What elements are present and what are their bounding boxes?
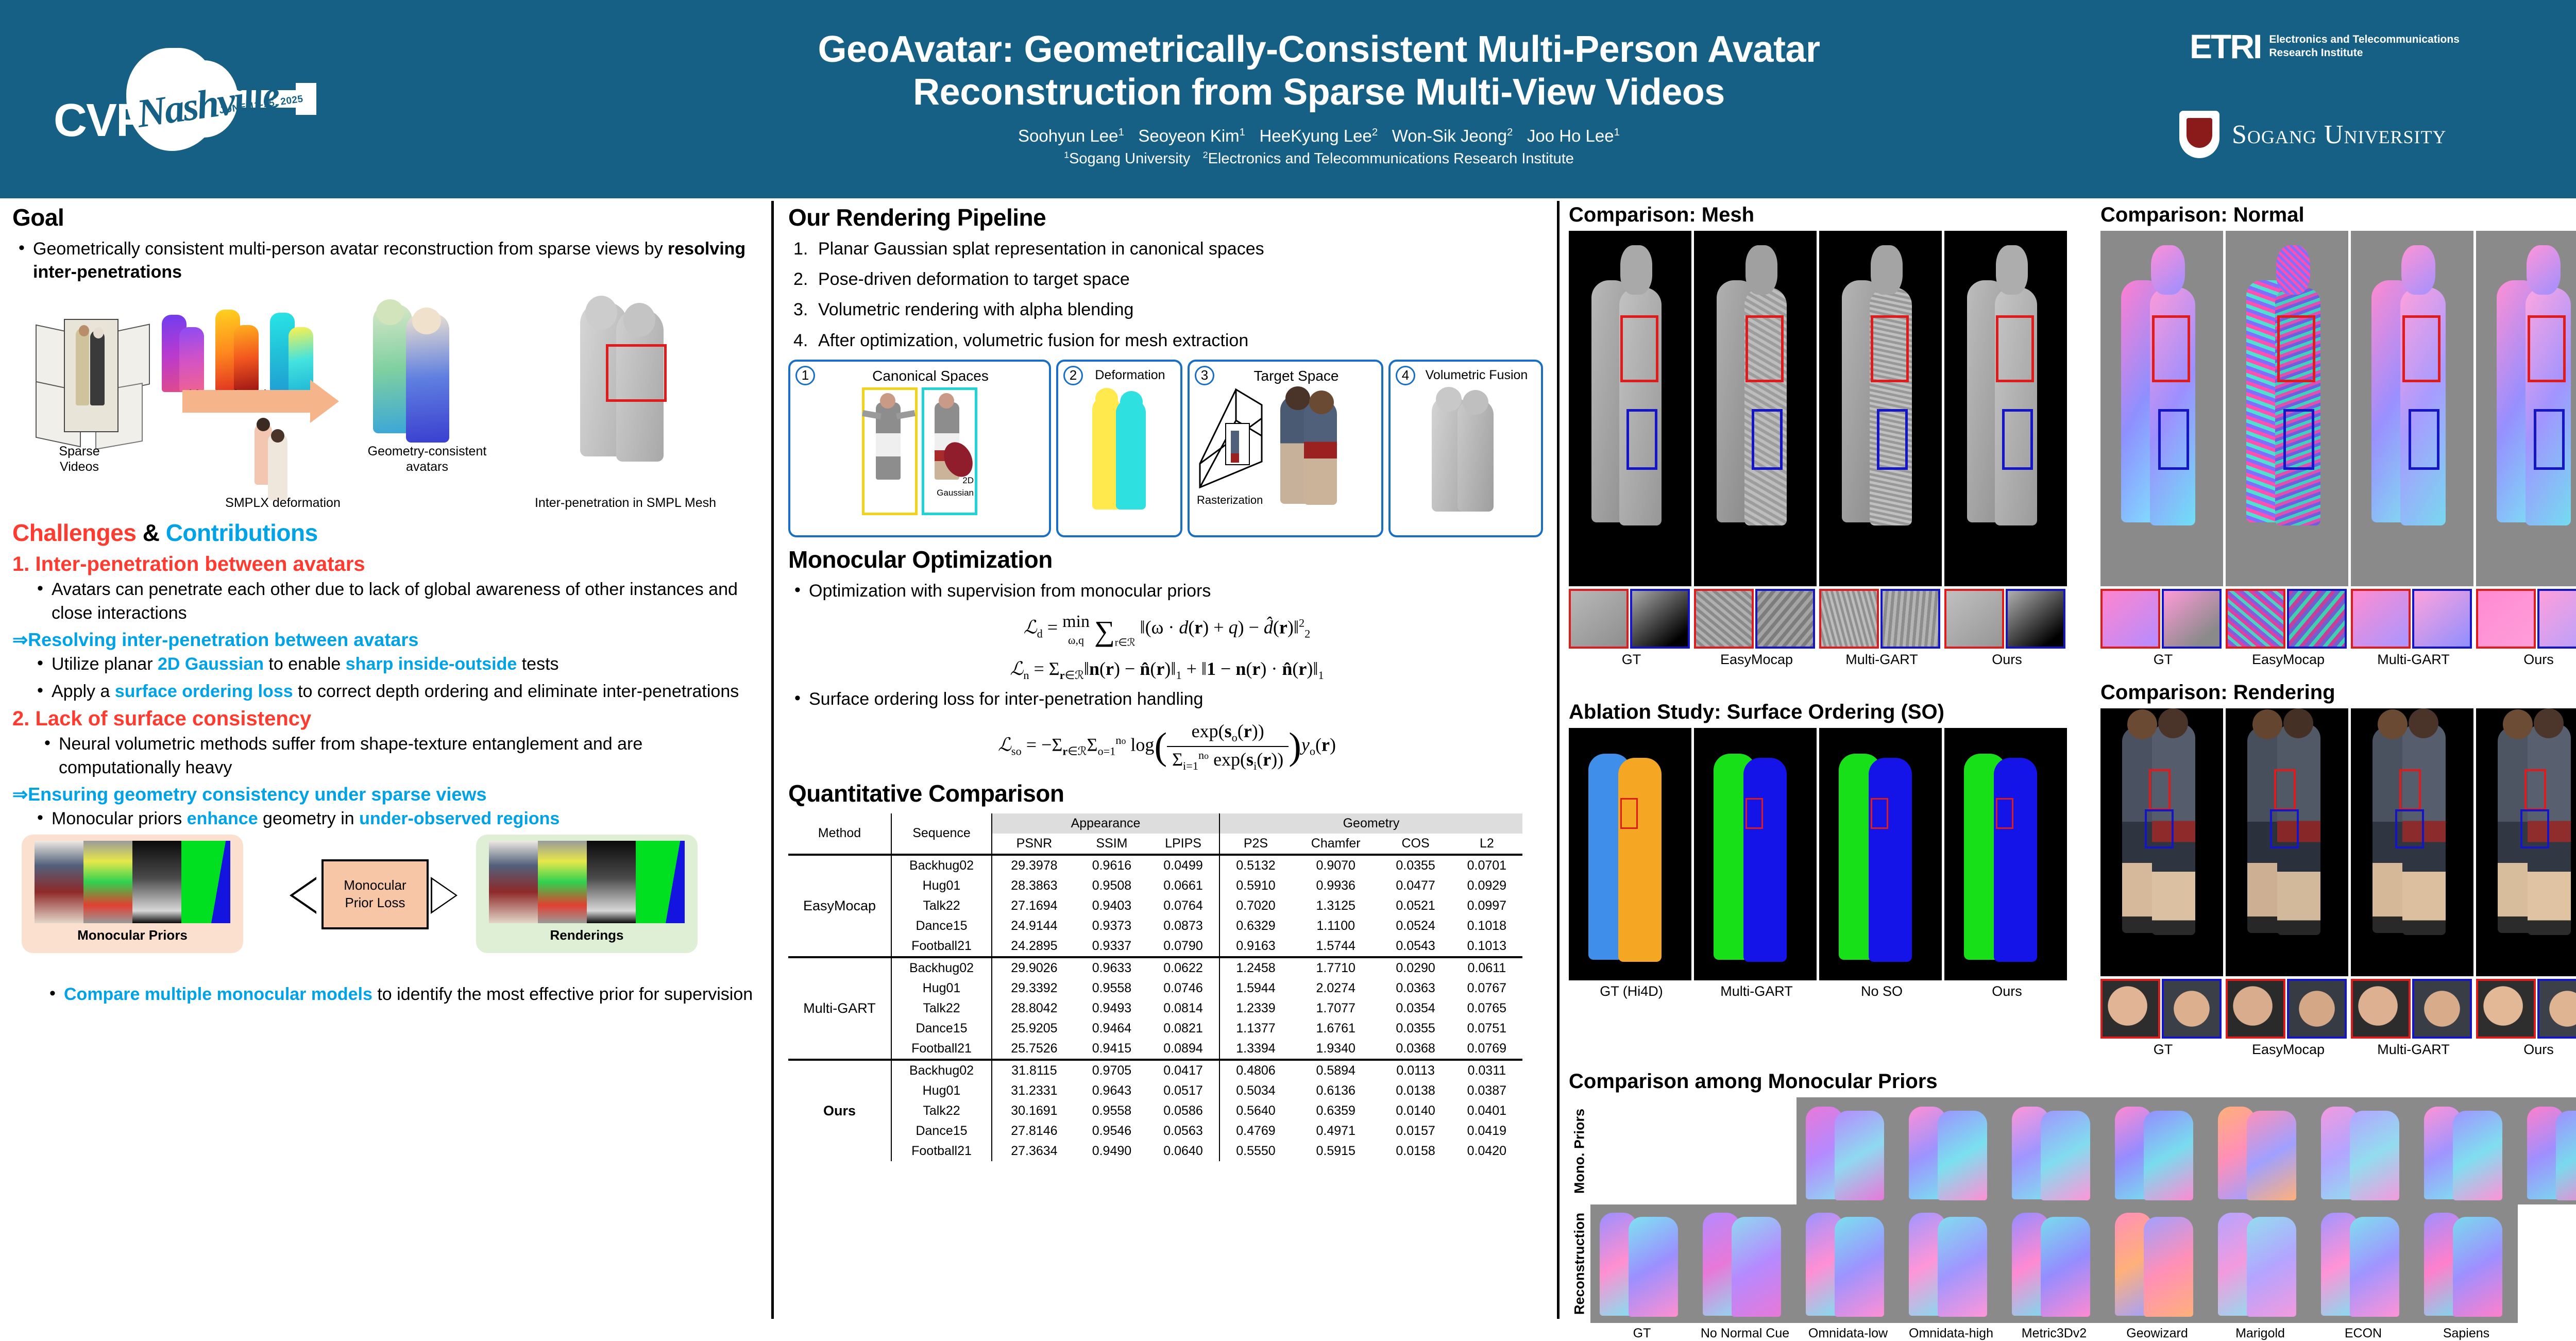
table-value-cell: 1.7077 xyxy=(1292,998,1380,1019)
table-value-cell: 0.0355 xyxy=(1380,1019,1451,1039)
optimization-heading: Monocular Optimization xyxy=(788,546,1546,573)
table-value-cell: 27.8146 xyxy=(992,1121,1076,1141)
table-value-cell: 0.0417 xyxy=(1147,1060,1219,1081)
column-divider-2 xyxy=(1557,201,1560,1319)
mesh-crops-multigart xyxy=(1819,589,1942,649)
table-value-cell: 0.0622 xyxy=(1147,957,1219,978)
table-value-cell: 0.0363 xyxy=(1380,978,1451,998)
normal-crop-blue xyxy=(2412,589,2472,649)
mesh-crop-red xyxy=(1694,589,1754,649)
comparison-mesh-title: Comparison: Mesh xyxy=(1569,203,2070,227)
normal-multigart-blue-box xyxy=(2409,409,2439,470)
th-l2: L2 xyxy=(1451,834,1522,855)
table-sequence-cell: Backhug02 xyxy=(891,957,992,978)
institution-logos: ETRI Electronics and Telecommunications … xyxy=(2174,15,2576,185)
mesh-crop-blue xyxy=(1880,589,1940,649)
table-value-cell: 0.9705 xyxy=(1076,1060,1147,1081)
table-value-cell: 0.9464 xyxy=(1076,1019,1147,1039)
pipeline-box-1-number: 1 xyxy=(795,366,815,385)
affiliation-list: 1Sogang University 2Electronics and Tele… xyxy=(623,148,2014,169)
priors-row-label-mono: Mono. Priors xyxy=(1569,1097,1590,1204)
table-value-cell: 31.2331 xyxy=(992,1081,1076,1101)
table-value-cell: 0.0563 xyxy=(1147,1121,1219,1141)
priors-caption: Metric3Dv2 xyxy=(2003,1326,2106,1341)
mono-prior-cell xyxy=(2003,1097,2106,1204)
normal-multigart-red-box xyxy=(2402,315,2441,382)
table-value-cell: 24.9144 xyxy=(992,916,1076,936)
table-value-cell: 0.0611 xyxy=(1451,957,1522,978)
table-value-cell: 0.0138 xyxy=(1380,1081,1451,1101)
table-value-cell: 0.0521 xyxy=(1380,896,1451,916)
comparison-normal-title: Comparison: Normal xyxy=(2100,203,2576,227)
rendering-ours-blue-box xyxy=(2520,809,2549,848)
mesh-caption-multigart: Multi-GART xyxy=(1819,652,1944,668)
mesh-crops-gt xyxy=(1569,589,1691,649)
table-value-cell: 1.9340 xyxy=(1292,1039,1380,1060)
table-value-cell: 0.0387 xyxy=(1451,1081,1522,1101)
equation-surface-ordering-loss: ℒso = −Σr∈ℛΣo=1no log(exp(so(r))Σi=1no e… xyxy=(788,720,1546,773)
mesh-multigart-red-box xyxy=(1871,315,1909,382)
t: geometry in xyxy=(258,809,360,828)
table-value-cell: 0.0790 xyxy=(1147,936,1219,957)
table-value-cell: 0.9493 xyxy=(1076,998,1147,1019)
goal-bullet-text: Geometrically consistent multi-person av… xyxy=(33,239,668,259)
loss-arrow-left-inner xyxy=(293,879,316,911)
pipeline-steps: 1.Planar Gaussian splat representation i… xyxy=(788,237,1546,352)
renderings-panel: Renderings xyxy=(476,835,698,953)
challenges-amp: & xyxy=(136,519,165,546)
rendering-multigart-red-box xyxy=(2399,769,2421,810)
th-group-appearance: Appearance xyxy=(992,813,1219,834)
caption-smplx-deformation: SMPLX deformation xyxy=(193,495,373,511)
poster-header: CVPR Nashville JUNE 11-15, 2025 GeoAvata… xyxy=(0,0,2576,198)
pipeline-box-target-space: 3 Target Space Rasterization xyxy=(1188,360,1383,537)
table-value-cell: 28.3863 xyxy=(992,876,1076,896)
mesh-crop-blue xyxy=(1755,589,1815,649)
normal-gt-blue-box xyxy=(2158,409,2189,470)
table-value-cell: 0.9415 xyxy=(1076,1039,1147,1060)
contribution-1-bullet-a: Utilize planar 2D Gaussian to enable sha… xyxy=(31,653,762,676)
comparison-rendering-title: Comparison: Rendering xyxy=(2100,681,2576,704)
table-value-cell: 1.5744 xyxy=(1292,936,1380,957)
mesh-panel-multigart xyxy=(1819,231,1942,586)
table-sequence-cell: Football21 xyxy=(891,1141,992,1161)
priors-image-strip xyxy=(35,841,230,923)
mesh-gt-red-box xyxy=(1620,315,1658,382)
table-value-cell: 0.5894 xyxy=(1292,1060,1380,1081)
table-value-cell: 0.1013 xyxy=(1451,936,1522,957)
pipeline-step-2: 2.Pose-driven deformation to target spac… xyxy=(788,268,1546,291)
t: 2D Gaussian xyxy=(158,654,264,674)
table-row: Hug0128.38630.95080.06610.59100.99360.04… xyxy=(788,876,1522,896)
normal-crop-blue xyxy=(2537,589,2576,649)
t: Monocular priors xyxy=(52,809,187,828)
t: tests xyxy=(517,654,558,674)
table-sequence-cell: Dance15 xyxy=(891,1121,992,1141)
normal-crop-red xyxy=(2226,589,2285,649)
mono-prior-cell xyxy=(1900,1097,2003,1204)
rendering-multigart-blue-box xyxy=(2395,809,2424,848)
challenge-2-title: 2. Lack of surface consistency xyxy=(12,707,762,731)
reconstruction-cell xyxy=(1797,1204,1900,1323)
rendering-panel-multigart xyxy=(2351,708,2473,976)
hand-crop-red xyxy=(2476,979,2536,1039)
normal-captions: GT EasyMocap Multi-GART Ours xyxy=(2100,652,2576,668)
table-value-cell: 0.0158 xyxy=(1380,1141,1451,1161)
pipeline-box-4-title: Volumetric Fusion xyxy=(1395,366,1537,383)
mesh-crop-blue xyxy=(1630,589,1690,649)
priors-caption: Geowizard xyxy=(2106,1326,2209,1341)
hand-crop-red xyxy=(2351,979,2411,1039)
normal-easymocap-red-box xyxy=(2277,315,2315,382)
ablation-panel-noso xyxy=(1819,728,1942,980)
rendering-caption-gt: GT xyxy=(2100,1042,2226,1058)
t: sharp inside-outside xyxy=(346,654,517,674)
page-title: GeoAvatar: Geometrically-Consistent Mult… xyxy=(623,28,2014,113)
reconstruction-cell xyxy=(2003,1204,2106,1323)
th-psnr: PSNR xyxy=(992,834,1076,855)
table-value-cell: 0.0767 xyxy=(1451,978,1522,998)
table-value-cell: 0.0401 xyxy=(1451,1101,1522,1121)
quantitative-heading: Quantitative Comparison xyxy=(788,779,1546,807)
th-sequence: Sequence xyxy=(891,813,992,855)
table-row: Dance1525.92050.94640.08211.13771.67610.… xyxy=(788,1019,1522,1039)
mono-prior-cell xyxy=(2518,1097,2576,1204)
table-value-cell: 0.0499 xyxy=(1147,855,1219,876)
table-value-cell: 0.5915 xyxy=(1292,1141,1380,1161)
table-row: Hug0131.23310.96430.05170.50340.61360.01… xyxy=(788,1081,1522,1101)
normal-crop-blue xyxy=(2287,589,2347,649)
sogang-logo: Sogang University xyxy=(2179,111,2446,158)
pipeline-diagram: 1 Canonical Spaces 2D Gaussian xyxy=(788,360,1546,537)
table-value-cell: 0.0290 xyxy=(1380,957,1451,978)
contribution-1-arrow: ⇒Resolving inter-penetration between ava… xyxy=(12,629,762,651)
rendering-caption-easymocap: EasyMocap xyxy=(2226,1042,2351,1058)
priors-caption: GT xyxy=(1590,1326,1693,1341)
table-value-cell: 0.0157 xyxy=(1380,1121,1451,1141)
rendering-caption-ours: Ours xyxy=(2476,1042,2576,1058)
table-value-cell: 1.1377 xyxy=(1219,1019,1292,1039)
table-value-cell: 0.9490 xyxy=(1076,1141,1147,1161)
optimization-bullets-2: Surface ordering loss for inter-penetrat… xyxy=(788,688,1546,711)
ablation-ours-red-box xyxy=(1996,798,2013,829)
pipeline-heading: Our Rendering Pipeline xyxy=(788,203,1546,231)
table-row: Dance1524.91440.93730.08730.63291.11000.… xyxy=(788,916,1522,936)
table-row: Hug0129.33920.95580.07461.59442.02740.03… xyxy=(788,978,1522,998)
right-column: Comparison: Mesh xyxy=(1569,203,2576,1341)
sparse-videos-illustration xyxy=(36,319,149,437)
table-value-cell: 0.6329 xyxy=(1219,916,1292,936)
rendering-gt-red-box xyxy=(2149,769,2171,810)
pipeline-box-2-number: 2 xyxy=(1063,366,1083,385)
t: under-observed regions xyxy=(359,809,560,828)
mono-prior-cell xyxy=(2106,1097,2209,1204)
rendering-crop-row xyxy=(2100,979,2576,1039)
process-arrow-body xyxy=(182,390,311,413)
table-sequence-cell: Talk22 xyxy=(891,896,992,916)
normal-crop-row xyxy=(2100,589,2576,649)
mesh-panel-gt xyxy=(1569,231,1691,586)
normal-crops-multigart xyxy=(2351,589,2473,649)
optimization-bullet-2: Surface ordering loss for inter-penetrat… xyxy=(788,688,1546,711)
normal-panel-gt xyxy=(2100,231,2223,586)
table-value-cell: 0.5034 xyxy=(1219,1081,1292,1101)
priors-comparison-title: Comparison among Monocular Priors xyxy=(1569,1070,2576,1093)
priors-caption: ECON xyxy=(2312,1326,2415,1341)
table-value-cell: 0.0311 xyxy=(1451,1060,1522,1081)
table-value-cell: 0.9558 xyxy=(1076,978,1147,998)
equation-normal-loss: ℒn = Σr∈ℛ‖n(r) − n̂(r)‖1 + ‖1 − n(r) · n… xyxy=(788,657,1546,683)
comparison-normal-block: Comparison: Normal xyxy=(2100,203,2576,668)
table-value-cell: 0.9070 xyxy=(1292,855,1380,876)
contributions-word: Contributions xyxy=(166,519,318,546)
ablation-noso-red-box xyxy=(1871,798,1888,829)
table-value-cell: 0.0140 xyxy=(1380,1101,1451,1121)
th-group-geometry: Geometry xyxy=(1219,813,1522,834)
table-value-cell: 0.0113 xyxy=(1380,1060,1451,1081)
table-value-cell: 1.5944 xyxy=(1219,978,1292,998)
table-row: Football2124.28950.93370.07900.91631.574… xyxy=(788,936,1522,957)
table-group-header-row: Method Sequence Appearance Geometry xyxy=(788,813,1522,834)
table-sequence-cell: Talk22 xyxy=(891,1101,992,1121)
rendering-panel-easymocap xyxy=(2226,708,2348,976)
reconstruction-cell xyxy=(2209,1204,2312,1323)
reconstruction-cell xyxy=(2415,1204,2518,1323)
table-row: Multi-GARTBackhug0229.90260.96330.06221.… xyxy=(788,957,1522,978)
column-divider-1 xyxy=(771,201,774,1319)
table-value-cell: 29.9026 xyxy=(992,957,1076,978)
t: Utilize planar xyxy=(52,654,158,674)
table-method-cell: Multi-GART xyxy=(788,957,891,1060)
table-sequence-cell: Backhug02 xyxy=(891,855,992,876)
table-value-cell: 0.5132 xyxy=(1219,855,1292,876)
pipeline-box-3-title: Target Space xyxy=(1194,366,1377,384)
table-value-cell: 0.6359 xyxy=(1292,1101,1380,1121)
table-value-cell: 0.0368 xyxy=(1380,1039,1451,1060)
left-column: Goal Geometrically consistent multi-pers… xyxy=(12,203,762,1010)
rasterization-label: Rasterization xyxy=(1197,494,1263,507)
rendering-easymocap-blue-box xyxy=(2270,809,2299,848)
table-value-cell: 0.9558 xyxy=(1076,1101,1147,1121)
priors-caption: Omnidata-low xyxy=(1797,1326,1900,1341)
goal-bullet: Geometrically consistent multi-person av… xyxy=(12,237,762,284)
rendering-gt-blue-box xyxy=(2145,809,2174,848)
table-row: Talk2230.16910.95580.05860.56400.63590.0… xyxy=(788,1101,1522,1121)
normal-ours-blue-box xyxy=(2534,409,2565,470)
table-value-cell: 29.3978 xyxy=(992,855,1076,876)
table-value-cell: 0.4769 xyxy=(1219,1121,1292,1141)
mesh-crop-row xyxy=(1569,589,2070,649)
normal-caption-easymocap: EasyMocap xyxy=(2226,652,2351,668)
contribution-1-bullet-b: Apply a surface ordering loss to correct… xyxy=(31,680,762,703)
table-value-cell: 1.3125 xyxy=(1292,896,1380,916)
hand-crop-red xyxy=(2100,979,2160,1039)
pipeline-box-volumetric-fusion: 4 Volumetric Fusion xyxy=(1388,360,1543,537)
priors-caption: Sapiens xyxy=(2415,1326,2518,1341)
hand-crop-blue xyxy=(2537,979,2576,1039)
reconstruction-cell xyxy=(1590,1204,1693,1323)
normal-crop-red xyxy=(2476,589,2536,649)
table-value-cell: 0.0517 xyxy=(1147,1081,1219,1101)
challenges-heading: Challenges & Contributions xyxy=(12,519,762,547)
table-value-cell: 0.9643 xyxy=(1076,1081,1147,1101)
table-value-cell: 0.0524 xyxy=(1380,916,1451,936)
t: to identify the most effective prior for… xyxy=(372,984,753,1004)
challenge-1-bullets: Avatars can penetrate each other due to … xyxy=(31,578,762,624)
t: to enable xyxy=(264,654,346,674)
mesh-caption-easymocap: EasyMocap xyxy=(1694,652,1819,668)
sogang-wordmark: Sogang University xyxy=(2232,120,2446,150)
table-value-cell: 0.0769 xyxy=(1451,1039,1522,1060)
pipeline-step-3: 3.Volumetric rendering with alpha blendi… xyxy=(788,298,1546,321)
contribution-2-bullets: Monocular priors enhance geometry in und… xyxy=(31,807,762,830)
table-value-cell: 0.9546 xyxy=(1076,1121,1147,1141)
goal-heading: Goal xyxy=(12,203,762,231)
table-value-cell: 0.1018 xyxy=(1451,916,1522,936)
normal-caption-gt: GT xyxy=(2100,652,2226,668)
normal-caption-ours: Ours xyxy=(2476,652,2576,668)
mesh-crop-blue xyxy=(2006,589,2065,649)
table-value-cell: 0.0661 xyxy=(1147,876,1219,896)
t: enhance xyxy=(187,809,258,828)
comparison-mesh-block: Comparison: Mesh xyxy=(1569,203,2070,668)
rendering-panel-ours xyxy=(2476,708,2576,976)
table-value-cell: 1.3394 xyxy=(1219,1039,1292,1060)
pipeline-box-3-number: 3 xyxy=(1195,366,1214,385)
ablation-caption-multigart: Multi-GART xyxy=(1694,983,1819,999)
mesh-panel-ours xyxy=(1944,231,2067,586)
mesh-crops-ours xyxy=(1944,589,2067,649)
ablation-title: Ablation Study: Surface Ordering (SO) xyxy=(1569,701,2070,724)
hand-crop-red xyxy=(2226,979,2285,1039)
th-chamfer: Chamfer xyxy=(1292,834,1380,855)
priors-row-label-recon: Reconstruction xyxy=(1569,1204,1590,1323)
final-bullets: Compare multiple monocular models to ide… xyxy=(43,983,762,1006)
ablation-caption-gt: GT (Hi4D) xyxy=(1569,983,1694,999)
th-ssim: SSIM xyxy=(1076,834,1147,855)
t: Volumetric rendering with alpha blending xyxy=(818,300,1133,319)
rendering-caption-multigart: Multi-GART xyxy=(2351,1042,2476,1058)
renderings-panel-label: Renderings xyxy=(550,927,623,943)
mesh-panel-easymocap xyxy=(1694,231,1817,586)
table-value-cell: 1.2458 xyxy=(1219,957,1292,978)
table-body: EasyMocapBackhug0229.39780.96160.04990.5… xyxy=(788,855,1522,1161)
middle-column: Our Rendering Pipeline 1.Planar Gaussian… xyxy=(788,203,1546,1161)
mesh-easymocap-blue-box xyxy=(1752,409,1783,470)
table-value-cell: 0.9508 xyxy=(1076,876,1147,896)
priors-panel-label: Monocular Priors xyxy=(77,927,188,943)
monocular-prior-loss-box: Monocular Prior Loss xyxy=(321,859,429,929)
ablation-panel-gt xyxy=(1569,728,1691,980)
table-row: Talk2228.80420.94930.08141.23391.70770.0… xyxy=(788,998,1522,1019)
normal-crops-easymocap xyxy=(2226,589,2348,649)
challenge-1-bullet: Avatars can penetrate each other due to … xyxy=(31,578,762,624)
normal-gt-red-box xyxy=(2152,315,2190,382)
reconstruction-cell xyxy=(2312,1204,2415,1323)
table-value-cell: 30.1691 xyxy=(992,1101,1076,1121)
normal-panel-easymocap xyxy=(2226,231,2348,586)
sogang-shield-icon xyxy=(2179,111,2219,158)
t: After optimization, volumetric fusion fo… xyxy=(818,331,1248,350)
table-method-cell: Ours xyxy=(788,1060,891,1161)
renderings-image-strip xyxy=(489,841,685,923)
goal-bullets: Geometrically consistent multi-person av… xyxy=(12,237,762,284)
caption-sparse-videos: Sparse Videos xyxy=(28,444,131,474)
table-value-cell: 0.4806 xyxy=(1219,1060,1292,1081)
author-list: Soohyun Lee1 Seoyeon Kim1 HeeKyung Lee2 … xyxy=(623,124,2014,148)
quantitative-comparison-table: Method Sequence Appearance Geometry PSNR… xyxy=(788,813,1522,1161)
table-sequence-cell: Football21 xyxy=(891,936,992,957)
table-value-cell: 0.9403 xyxy=(1076,896,1147,916)
challenges-word: Challenges xyxy=(12,519,136,546)
ablation-strip-row xyxy=(1569,728,2070,980)
pipeline-box-deformation: 2 Deformation xyxy=(1056,360,1182,537)
caption-inter-penetration: Inter-penetration in SMPL Mesh xyxy=(497,495,754,511)
mesh-caption-gt: GT xyxy=(1569,652,1694,668)
table-value-cell: 27.1694 xyxy=(992,896,1076,916)
rendering-easymocap-red-box xyxy=(2274,769,2296,810)
priors-caption: No Normal Cue xyxy=(1693,1326,1797,1341)
pipeline-step-4: 4.After optimization, volumetric fusion … xyxy=(788,329,1546,352)
t: Apply a xyxy=(52,682,115,701)
etri-wordmark: ETRI xyxy=(2190,27,2261,66)
th-method: Method xyxy=(788,813,891,855)
table-value-cell: 0.5910 xyxy=(1219,876,1292,896)
t: Pose-driven deformation to target space xyxy=(818,269,1130,289)
challenge-1-title: 1. Inter-penetration between avatars xyxy=(12,553,762,576)
th-cos: COS xyxy=(1380,834,1451,855)
canonical-space-cyan: 2D Gaussian xyxy=(922,387,977,515)
mesh-crops-easymocap xyxy=(1694,589,1817,649)
pipeline-box-4-number: 4 xyxy=(1396,366,1415,385)
table-value-cell: 0.0477 xyxy=(1380,876,1451,896)
rendering-panel-gt xyxy=(2100,708,2223,976)
table-value-cell: 1.1100 xyxy=(1292,916,1380,936)
table-sequence-cell: Hug01 xyxy=(891,978,992,998)
equation-depth-loss: ℒd = minω,q ∑r∈ℛ ‖(ω · d(r) + q) − d̂(r)… xyxy=(788,611,1546,649)
cvpr-logo: CVPR Nashville JUNE 11-15, 2025 xyxy=(36,28,355,167)
normal-ours-red-box xyxy=(2528,315,2566,382)
normal-crop-blue xyxy=(2162,589,2222,649)
normal-easymocap-blue-box xyxy=(2283,409,2314,470)
rendering-crops-ours xyxy=(2476,979,2576,1039)
normal-strip-row xyxy=(2100,231,2576,586)
monocular-priors-comparison-block: Comparison among Monocular Priors Mono. … xyxy=(1569,1070,2576,1341)
ablation-panel-multigart xyxy=(1694,728,1817,980)
mesh-ours-blue-box xyxy=(2002,409,2033,470)
caption-geometry-consistent: Geometry-consistent avatars xyxy=(342,444,512,474)
normal-caption-multigart: Multi-GART xyxy=(2351,652,2476,668)
mono-priors-row xyxy=(1693,1097,2576,1204)
mono-prior-cell xyxy=(2312,1097,2415,1204)
normal-panel-multigart xyxy=(2351,231,2473,586)
table-head: Method Sequence Appearance Geometry PSNR… xyxy=(788,813,1522,855)
hand-crop-blue xyxy=(2162,979,2222,1039)
table-value-cell: 0.0543 xyxy=(1380,936,1451,957)
pipeline-box-1-title: Canonical Spaces xyxy=(794,366,1045,384)
table-value-cell: 0.0586 xyxy=(1147,1101,1219,1121)
hand-crop-blue xyxy=(2412,979,2472,1039)
t: to correct depth ordering and eliminate … xyxy=(293,682,739,701)
ablation-panel-ours xyxy=(1944,728,2067,980)
normal-crops-gt xyxy=(2100,589,2223,649)
table-value-cell: 0.9633 xyxy=(1076,957,1147,978)
ablation-block: Ablation Study: Surface Ordering (SO) xyxy=(1569,681,2070,1058)
table-value-cell: 0.0814 xyxy=(1147,998,1219,1019)
ablation-caption-noso: No SO xyxy=(1819,983,1944,999)
contribution-2-bullet: Monocular priors enhance geometry in und… xyxy=(31,807,762,830)
table-sequence-cell: Football21 xyxy=(891,1039,992,1060)
